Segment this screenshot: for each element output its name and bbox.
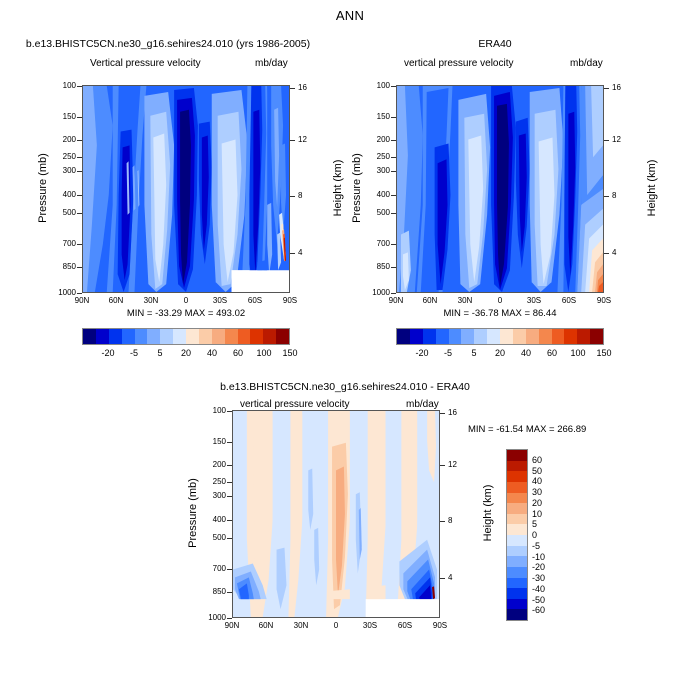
ytickmark-top-right-2 [391, 140, 396, 141]
ytick-bottom-diff-5: 400 [190, 516, 226, 524]
colorbar-swatch-v-0 [507, 450, 527, 461]
rtickmark-top-right-2 [604, 196, 609, 197]
ytick-top-left-3: 250 [40, 153, 76, 161]
colorbar-swatch-9 [513, 329, 526, 344]
ytick-top-right-3: 250 [354, 153, 390, 161]
colorbar-tick-label-v-6: 5 [532, 519, 537, 529]
ytickmark-bottom-diff-6 [227, 538, 232, 539]
ytickmark-top-left-3 [77, 157, 82, 158]
colorbar-swatch-4 [449, 329, 462, 344]
ytick-bottom-diff-6: 500 [190, 534, 226, 542]
colorbar-swatch-v-2 [507, 471, 527, 482]
xtick-bottom-diff-0: 90N [218, 622, 246, 630]
colorbar-tick-label-v-8: -5 [532, 541, 540, 551]
colorbar-top-left [82, 328, 290, 345]
colorbar-swatch-10 [526, 329, 539, 344]
ytick-top-left-0: 100 [40, 82, 76, 90]
panel-title-bottom-diff: b.e13.BHISTC5CN.ne30_g16.sehires24.010 -… [180, 381, 510, 393]
colorbar-tick-label-4: 40 [207, 348, 217, 358]
colorbar-tick-label-v-9: -10 [532, 552, 545, 562]
rtickmark-bottom-diff-3 [440, 578, 445, 579]
colorbar-swatch-2 [423, 329, 436, 344]
xtick-top-left-0: 90N [68, 297, 96, 305]
ytickmark-top-left-0 [77, 86, 82, 87]
colorbar-swatch-v-7 [507, 524, 527, 535]
xtick-bottom-diff-2: 30N [287, 622, 315, 630]
colorbar-swatch-v-4 [507, 493, 527, 504]
colorbar-tick-label-4: 40 [521, 348, 531, 358]
ytick-top-left-1: 150 [40, 113, 76, 121]
colorbar-swatch-13 [564, 329, 577, 344]
ytick-bottom-diff-8: 850 [190, 588, 226, 596]
ytick-top-left-6: 500 [40, 209, 76, 217]
rtickmark-bottom-diff-0 [440, 413, 445, 414]
colorbar-tick-label-3: 20 [495, 348, 505, 358]
xtick-top-left-1: 60N [102, 297, 130, 305]
xtick-top-right-6: 90S [590, 297, 618, 305]
colorbar-swatch-5 [461, 329, 474, 344]
xtick-bottom-diff-5: 60S [391, 622, 419, 630]
xtick-top-right-4: 30S [520, 297, 548, 305]
colorbar-swatch-v-5 [507, 503, 527, 514]
xtick-top-left-3: 0 [172, 297, 200, 305]
ytickmark-top-right-0 [391, 86, 396, 87]
colorbar-swatch-v-11 [507, 567, 527, 578]
rtickmark-top-left-0 [290, 88, 295, 89]
ytickmark-top-right-9 [391, 293, 396, 294]
colorbar-labels-top-right: -20-55204060100150 [396, 348, 604, 360]
ytick-bottom-diff-2: 200 [190, 461, 226, 469]
ytickmark-top-right-7 [391, 244, 396, 245]
xtick-top-right-0: 90N [382, 297, 410, 305]
field-label-bottom-diff: vertical pressure velocity [240, 399, 349, 410]
ytick-top-left-9: 1000 [40, 289, 76, 297]
ytick-bottom-diff-1: 150 [190, 438, 226, 446]
colorbar-swatch-3 [122, 329, 135, 344]
rtick-top-left-0: 16 [298, 84, 307, 92]
contour-canvas-top-left [83, 86, 289, 292]
rtickmark-top-right-3 [604, 253, 609, 254]
colorbar-bottom-diff [506, 449, 528, 621]
ytick-top-right-1: 150 [354, 113, 390, 121]
colorbar-tick-label-0: -20 [101, 348, 114, 358]
field-label-top-right: vertical pressure velocity [404, 58, 513, 69]
minmax-top-left: MIN = -33.29 MAX = 493.02 [82, 308, 290, 319]
rtickmark-top-left-3 [290, 253, 295, 254]
colorbar-tick-label-2: 5 [157, 348, 162, 358]
rtickmark-top-left-1 [290, 140, 295, 141]
ytickmark-top-right-3 [391, 157, 396, 158]
colorbar-tick-label-v-4: 20 [532, 498, 542, 508]
colorbar-tick-label-v-12: -40 [532, 584, 545, 594]
rtick-bottom-diff-2: 8 [448, 517, 452, 525]
colorbar-swatch-8 [186, 329, 199, 344]
ytick-top-right-8: 850 [354, 263, 390, 271]
ytickmark-top-right-1 [391, 117, 396, 118]
ytick-bottom-diff-7: 700 [190, 565, 226, 573]
colorbar-swatch-v-14 [507, 599, 527, 610]
colorbar-swatch-6 [474, 329, 487, 344]
colorbar-swatch-v-6 [507, 514, 527, 525]
ytickmark-top-left-9 [77, 293, 82, 294]
minmax-bottom-diff: MIN = -61.54 MAX = 266.89 [468, 424, 668, 435]
colorbar-swatch-13 [250, 329, 263, 344]
ytickmark-top-left-6 [77, 213, 82, 214]
colorbar-swatch-v-8 [507, 535, 527, 546]
colorbar-swatch-v-13 [507, 588, 527, 599]
ytick-top-right-5: 400 [354, 191, 390, 199]
rtick-bottom-diff-1: 12 [448, 461, 457, 469]
plot-area-top-right [396, 85, 604, 293]
ytickmark-top-right-6 [391, 213, 396, 214]
colorbar-tick-label-6: 100 [256, 348, 271, 358]
ytick-top-left-5: 400 [40, 191, 76, 199]
colorbar-tick-label-1: -5 [130, 348, 138, 358]
xtick-top-left-4: 30S [206, 297, 234, 305]
ytickmark-bottom-diff-1 [227, 442, 232, 443]
ytickmark-bottom-diff-2 [227, 465, 232, 466]
colorbar-swatch-v-3 [507, 482, 527, 493]
colorbar-tick-label-1: -5 [444, 348, 452, 358]
rtick-top-left-1: 12 [298, 136, 307, 144]
ytickmark-bottom-diff-7 [227, 569, 232, 570]
colorbar-swatch-12 [238, 329, 251, 344]
ytick-top-left-7: 700 [40, 240, 76, 248]
ytick-top-right-6: 500 [354, 209, 390, 217]
colorbar-swatch-6 [160, 329, 173, 344]
colorbar-swatch-14 [577, 329, 590, 344]
colorbar-labels-top-left: -20-55204060100150 [82, 348, 290, 360]
xtick-top-right-1: 60N [416, 297, 444, 305]
units-label-top-left: mb/day [255, 58, 288, 69]
colorbar-swatch-3 [436, 329, 449, 344]
colorbar-tick-label-v-3: 30 [532, 487, 542, 497]
colorbar-swatch-1 [410, 329, 423, 344]
figure-title: ANN [0, 8, 700, 23]
colorbar-tick-label-v-5: 10 [532, 509, 542, 519]
ytickmark-top-left-5 [77, 195, 82, 196]
ytickmark-top-left-1 [77, 117, 82, 118]
rtick-top-right-1: 12 [612, 136, 621, 144]
xtick-bottom-diff-4: 30S [356, 622, 384, 630]
colorbar-swatch-11 [539, 329, 552, 344]
colorbar-swatch-2 [109, 329, 122, 344]
colorbar-tick-label-v-1: 50 [532, 466, 542, 476]
ytickmark-top-left-8 [77, 267, 82, 268]
rtick-top-right-3: 4 [612, 249, 616, 257]
colorbar-tick-label-v-14: -60 [532, 605, 545, 615]
colorbar-swatch-8 [500, 329, 513, 344]
rtickmark-top-right-1 [604, 140, 609, 141]
ytickmark-top-left-7 [77, 244, 82, 245]
rylabel-bottom-diff: Height (km) [482, 463, 494, 563]
ytick-bottom-diff-3: 250 [190, 478, 226, 486]
colorbar-swatch-12 [552, 329, 565, 344]
colorbar-swatch-v-9 [507, 546, 527, 557]
ytickmark-bottom-diff-3 [227, 482, 232, 483]
ytickmark-top-left-2 [77, 140, 82, 141]
rylabel-top-left: Height (km) [332, 138, 344, 238]
ytick-top-right-4: 300 [354, 167, 390, 175]
ytick-top-right-7: 700 [354, 240, 390, 248]
contour-canvas-top-right [397, 86, 603, 292]
ytickmark-bottom-diff-8 [227, 592, 232, 593]
colorbar-swatch-7 [487, 329, 500, 344]
xtick-bottom-diff-1: 60N [252, 622, 280, 630]
rtick-top-left-2: 8 [298, 192, 302, 200]
ytick-bottom-diff-0: 100 [190, 407, 226, 415]
colorbar-swatch-1 [96, 329, 109, 344]
rtickmark-top-right-0 [604, 88, 609, 89]
ytick-top-left-4: 300 [40, 167, 76, 175]
rtickmark-bottom-diff-2 [440, 521, 445, 522]
colorbar-tick-label-3: 20 [181, 348, 191, 358]
xtick-top-left-5: 60S [241, 297, 269, 305]
colorbar-swatch-15 [276, 329, 289, 344]
colorbar-swatch-7 [173, 329, 186, 344]
colorbar-swatch-14 [263, 329, 276, 344]
ytick-top-right-0: 100 [354, 82, 390, 90]
figure-root: ANN b.e13.BHISTC5CN.ne30_g16.sehires24.0… [0, 0, 700, 700]
xtick-top-right-3: 0 [486, 297, 514, 305]
minmax-top-right: MIN = -36.78 MAX = 86.44 [396, 308, 604, 319]
colorbar-tick-label-v-2: 40 [532, 476, 542, 486]
rtick-top-right-2: 8 [612, 192, 616, 200]
colorbar-swatch-v-12 [507, 578, 527, 589]
colorbar-tick-label-v-7: 0 [532, 530, 537, 540]
units-label-bottom-diff: mb/day [406, 399, 439, 410]
ytickmark-top-left-4 [77, 171, 82, 172]
colorbar-swatch-v-1 [507, 461, 527, 472]
field-label-top-left: Vertical pressure velocity [90, 58, 201, 69]
colorbar-tick-label-v-11: -30 [532, 573, 545, 583]
ytick-top-left-2: 200 [40, 136, 76, 144]
xtick-top-left-2: 30N [137, 297, 165, 305]
colorbar-tick-label-5: 60 [547, 348, 557, 358]
rtick-top-right-0: 16 [612, 84, 621, 92]
colorbar-swatch-v-15 [507, 609, 527, 620]
colorbar-tick-label-0: -20 [415, 348, 428, 358]
ytickmark-top-right-4 [391, 171, 396, 172]
rtickmark-top-left-2 [290, 196, 295, 197]
rtick-bottom-diff-0: 16 [448, 409, 457, 417]
ytickmark-bottom-diff-9 [227, 618, 232, 619]
rtick-bottom-diff-3: 4 [448, 574, 452, 582]
colorbar-swatch-v-10 [507, 556, 527, 567]
rylabel-top-right: Height (km) [646, 138, 658, 238]
contour-canvas-bottom-diff [233, 411, 439, 617]
colorbar-tick-label-v-0: 60 [532, 455, 542, 465]
colorbar-tick-label-2: 5 [471, 348, 476, 358]
plot-area-top-left [82, 85, 290, 293]
colorbar-top-right [396, 328, 604, 345]
colorbar-swatch-11 [225, 329, 238, 344]
ytick-bottom-diff-9: 1000 [190, 614, 226, 622]
ytick-bottom-diff-4: 300 [190, 492, 226, 500]
units-label-top-right: mb/day [570, 58, 603, 69]
colorbar-swatch-5 [147, 329, 160, 344]
colorbar-swatch-0 [397, 329, 410, 344]
xtick-top-right-2: 30N [451, 297, 479, 305]
colorbar-swatch-4 [135, 329, 148, 344]
colorbar-tick-label-v-10: -20 [532, 562, 545, 572]
xtick-bottom-diff-3: 0 [322, 622, 350, 630]
colorbar-swatch-15 [590, 329, 603, 344]
colorbar-tick-label-6: 100 [570, 348, 585, 358]
rtick-top-left-3: 4 [298, 249, 302, 257]
colorbar-swatch-0 [83, 329, 96, 344]
colorbar-tick-label-7: 150 [282, 348, 297, 358]
colorbar-swatch-10 [212, 329, 225, 344]
ytickmark-top-right-5 [391, 195, 396, 196]
colorbar-tick-label-5: 60 [233, 348, 243, 358]
ytick-top-left-8: 850 [40, 263, 76, 271]
ytickmark-top-right-8 [391, 267, 396, 268]
ytickmark-bottom-diff-0 [227, 411, 232, 412]
colorbar-tick-label-7: 150 [596, 348, 611, 358]
rtickmark-bottom-diff-1 [440, 465, 445, 466]
ytick-top-right-2: 200 [354, 136, 390, 144]
plot-area-bottom-diff [232, 410, 440, 618]
colorbar-swatch-9 [199, 329, 212, 344]
colorbar-tick-label-v-13: -50 [532, 595, 545, 605]
xtick-bottom-diff-6: 90S [426, 622, 454, 630]
ytickmark-bottom-diff-4 [227, 496, 232, 497]
ytick-top-right-9: 1000 [354, 289, 390, 297]
ytickmark-bottom-diff-5 [227, 520, 232, 521]
panel-title-top-left: b.e13.BHISTC5CN.ne30_g16.sehires24.010 (… [12, 38, 324, 50]
xtick-top-right-5: 60S [555, 297, 583, 305]
panel-title-top-right: ERA40 [350, 38, 640, 50]
xtick-top-left-6: 90S [276, 297, 304, 305]
